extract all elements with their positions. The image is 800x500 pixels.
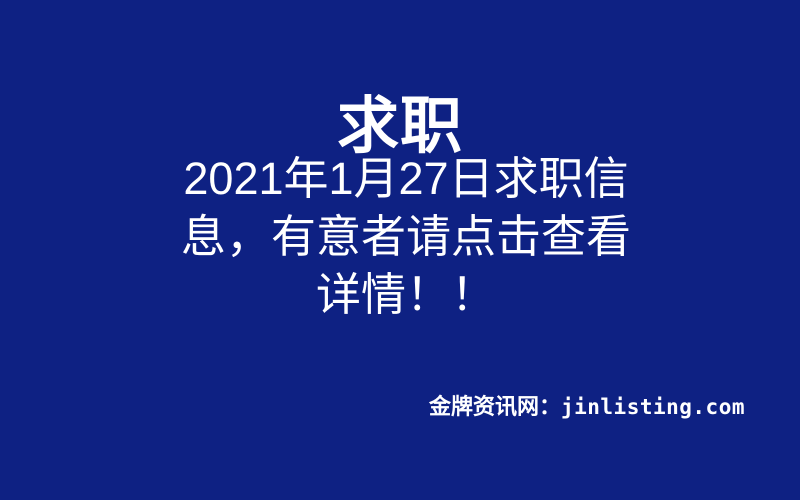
body-line-1: 2021年1月27日求职信	[170, 150, 642, 208]
announcement-body: 2021年1月27日求职信 息，有意者请点击查看 详情！！	[170, 150, 642, 324]
site-url-label: jinlisting.com	[561, 395, 745, 419]
poster-canvas: 求职 2021年1月27日求职信 息，有意者请点击查看 详情！！ 金牌资讯网：j…	[0, 0, 800, 500]
site-name-label: 金牌资讯网：	[429, 394, 561, 419]
site-credit: 金牌资讯网：jinlisting.com	[0, 392, 800, 422]
body-line-2: 息，有意者请点击查看	[170, 208, 642, 266]
body-line-3: 详情！！	[170, 266, 642, 324]
page-title: 求职	[0, 94, 800, 159]
